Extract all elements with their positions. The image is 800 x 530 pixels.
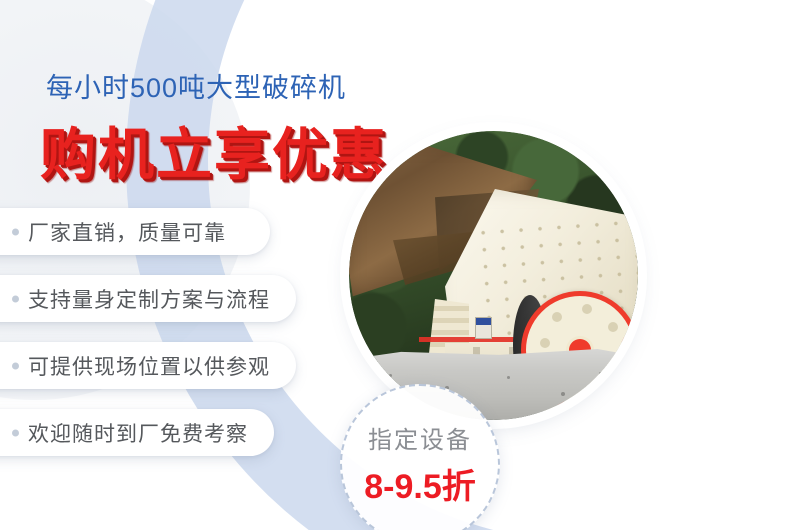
badge-top-label: 指定设备 xyxy=(368,420,472,455)
flywheel-hole xyxy=(608,322,618,332)
banner-subtitle: 每小时500吨大型破碎机 xyxy=(46,66,346,105)
safety-placard xyxy=(475,317,492,339)
concrete-speck xyxy=(389,374,392,377)
bullet-dot-icon xyxy=(12,228,19,235)
concrete-speck xyxy=(561,392,565,396)
feature-label: 厂家直销，质量可靠 xyxy=(28,217,226,247)
concrete-speck xyxy=(507,376,510,379)
flywheel-hole xyxy=(582,304,592,314)
flywheel-hole xyxy=(540,338,550,348)
feature-list: 厂家直销，质量可靠 支持量身定制方案与流程 可提供现场位置以供参观 欢迎随时到厂… xyxy=(0,208,296,476)
discount-badge[interactable]: 指定设备 8-9.5折 xyxy=(340,384,500,530)
product-photo-circle xyxy=(349,131,638,420)
banner-main-title: 购机立享优惠 xyxy=(40,110,388,191)
bullet-dot-icon xyxy=(12,362,19,369)
badge-discount: 8-9.5折 xyxy=(364,459,476,508)
bullet-dot-icon xyxy=(12,429,19,436)
promo-banner: 每小时500吨大型破碎机 购机立享优惠 厂家直销，质量可靠 支持量身定制方案与流… xyxy=(0,0,800,530)
impact-crusher-machine-image xyxy=(349,131,638,420)
bullet-dot-icon xyxy=(12,295,19,302)
concrete-speck xyxy=(599,372,602,375)
feature-label: 支持量身定制方案与流程 xyxy=(28,284,270,314)
feature-label: 可提供现场位置以供参观 xyxy=(28,351,270,381)
feature-item-2[interactable]: 支持量身定制方案与流程 xyxy=(0,275,296,322)
flywheel-hole xyxy=(552,312,562,322)
feature-item-4[interactable]: 欢迎随时到厂免费考察 xyxy=(0,409,274,456)
feature-label: 欢迎随时到厂免费考察 xyxy=(28,418,248,448)
feature-item-3[interactable]: 可提供现场位置以供参观 xyxy=(0,342,296,389)
feature-item-1[interactable]: 厂家直销，质量可靠 xyxy=(0,208,270,255)
